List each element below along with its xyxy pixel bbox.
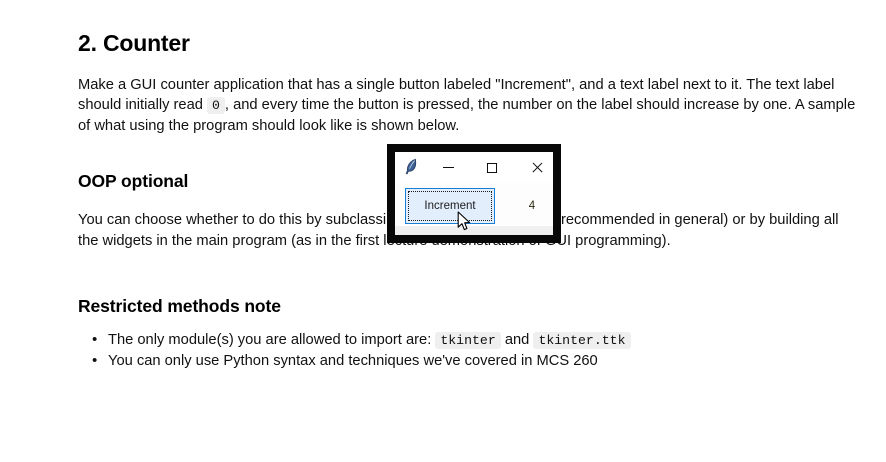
restricted-heading: Restricted methods note bbox=[78, 251, 856, 317]
feather-icon bbox=[403, 158, 419, 176]
counter-label: 4 bbox=[514, 188, 550, 224]
tk-minimize-button[interactable] bbox=[435, 152, 461, 183]
increment-button[interactable]: Increment bbox=[405, 188, 495, 224]
inline-code-tkinter: tkinter bbox=[435, 332, 500, 349]
bullet-text-a: The only module(s) you are allowed to im… bbox=[108, 332, 435, 348]
list-item: The only module(s) you are allowed to im… bbox=[108, 330, 856, 351]
assignment-page: 2. Counter Make a GUI counter applicatio… bbox=[0, 0, 886, 462]
bullet-text-a: You can only use Python syntax and techn… bbox=[108, 353, 598, 369]
tk-title-bar bbox=[395, 152, 553, 183]
tk-window-body: Increment 4 bbox=[395, 183, 553, 235]
oop-text-part-a: You can choose whether to do this by sub… bbox=[78, 212, 407, 228]
inline-code-tkinter-ttk: tkinter.ttk bbox=[533, 332, 630, 349]
bullet-text-b: and bbox=[501, 332, 534, 348]
page-title: 2. Counter bbox=[78, 0, 856, 58]
arrow-pointer-icon bbox=[457, 211, 472, 233]
tkinter-window-screenshot: Increment 4 bbox=[387, 144, 561, 243]
tk-close-button[interactable] bbox=[523, 152, 549, 183]
maximize-icon bbox=[487, 163, 497, 173]
tk-maximize-button[interactable] bbox=[479, 152, 505, 183]
tk-window: Increment 4 bbox=[387, 144, 561, 243]
restricted-bullet-list: The only module(s) you are allowed to im… bbox=[78, 317, 856, 372]
inline-code-zero: 0 bbox=[207, 97, 225, 114]
minimize-icon bbox=[443, 167, 454, 168]
intro-paragraph: Make a GUI counter application that has … bbox=[78, 58, 856, 136]
list-item: You can only use Python syntax and techn… bbox=[108, 351, 856, 372]
close-icon bbox=[531, 162, 542, 173]
